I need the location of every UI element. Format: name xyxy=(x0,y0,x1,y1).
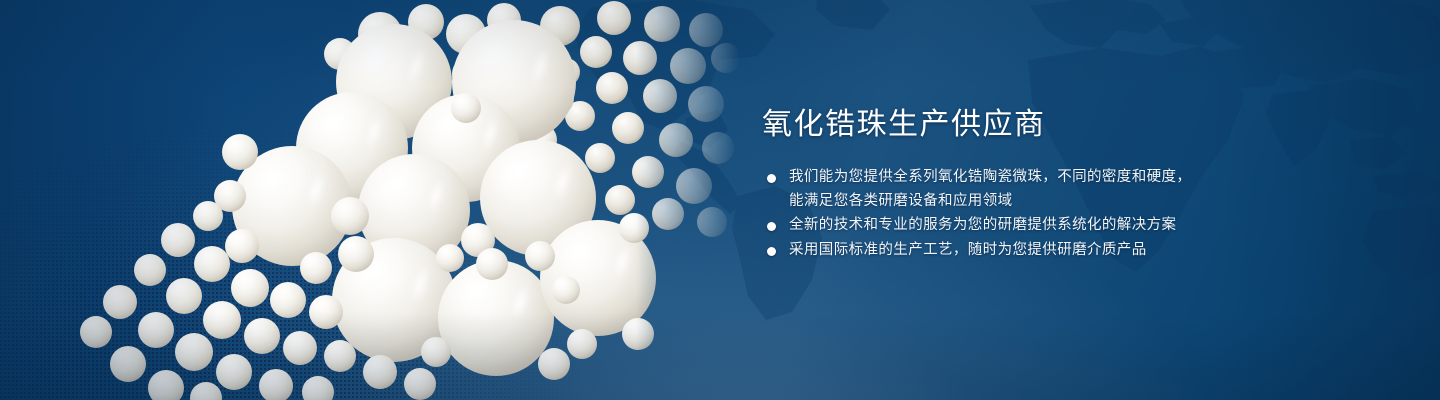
bullet-item-text: 采用国际标准的生产工艺，随时为您提供研磨介质产品 xyxy=(789,239,1322,263)
bullet-line-1: 我们能为您提供全系列氧化锆陶瓷微珠，不同的密度和硬度， xyxy=(789,169,1191,185)
bullet-item-text: 我们能为您提供全系列氧化锆陶瓷微珠，不同的密度和硬度， 能满足您各类研磨设备和应… xyxy=(789,166,1322,213)
bullet-dot-icon xyxy=(767,247,776,256)
bullet-item: 全新的技术和专业的服务为您的研磨提供系统化的解决方案 xyxy=(762,214,1322,238)
hero-banner: 氧化锆珠生产供应商 我们能为您提供全系列氧化锆陶瓷微珠，不同的密度和硬度， 能满… xyxy=(0,0,1440,400)
banner-bullet-list: 我们能为您提供全系列氧化锆陶瓷微珠，不同的密度和硬度， 能满足您各类研磨设备和应… xyxy=(762,166,1322,262)
bullet-item-text: 全新的技术和专业的服务为您的研磨提供系统化的解决方案 xyxy=(789,214,1322,238)
bullet-item: 采用国际标准的生产工艺，随时为您提供研磨介质产品 xyxy=(762,239,1322,263)
bullet-line-2: 能满足您各类研磨设备和应用领域 xyxy=(789,190,1322,214)
bullet-dot-icon xyxy=(767,222,776,231)
bullet-item: 我们能为您提供全系列氧化锆陶瓷微珠，不同的密度和硬度， 能满足您各类研磨设备和应… xyxy=(762,166,1322,213)
bullet-line-1: 全新的技术和专业的服务为您的研磨提供系统化的解决方案 xyxy=(789,217,1176,233)
bullet-dot-icon xyxy=(767,174,776,183)
banner-copy: 氧化锆珠生产供应商 我们能为您提供全系列氧化锆陶瓷微珠，不同的密度和硬度， 能满… xyxy=(762,105,1322,263)
bullet-line-1: 采用国际标准的生产工艺，随时为您提供研磨介质产品 xyxy=(789,242,1147,258)
banner-headline: 氧化锆珠生产供应商 xyxy=(762,105,1322,145)
